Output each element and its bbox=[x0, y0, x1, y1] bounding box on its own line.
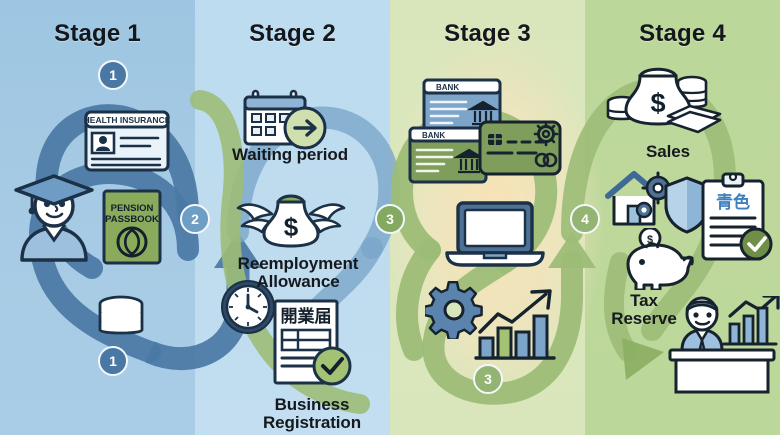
pension-passbook-icon: PENSION PASSBOOK bbox=[101, 188, 163, 266]
passbook-line-2: PASSBOOK bbox=[105, 214, 159, 225]
business-registration-l1: Business bbox=[202, 395, 422, 414]
money-bag-cash-icon: $ bbox=[604, 60, 722, 136]
step-badge-1-bottom: 1 bbox=[98, 346, 128, 376]
tax-reserve-l2: Reserve bbox=[534, 309, 754, 328]
bank-book-green-title: BANK bbox=[422, 131, 445, 140]
business-registration-form-icon: 開業届 bbox=[272, 298, 354, 390]
infographic-canvas: HEALTH INSURANCE PENSION PASSBOOK bbox=[0, 0, 780, 435]
step-badge-3-bottom: 3 bbox=[473, 364, 503, 394]
stage4-money-symbol: $ bbox=[650, 88, 665, 118]
stage-3-title: Stage 3 bbox=[390, 0, 585, 48]
clipboard-title: 青色 bbox=[716, 192, 750, 213]
passbook-line-1: PENSION bbox=[111, 203, 154, 214]
tax-reserve-l1: Tax bbox=[534, 291, 754, 310]
bank-book-green-icon: BANK bbox=[408, 126, 488, 184]
coin-stack-icon bbox=[94, 295, 148, 339]
form-title: 開業届 bbox=[281, 306, 332, 327]
stage-titles: Stage 1 Stage 2 Stage 3 Stage 4 bbox=[0, 0, 780, 48]
step-badge-2: 2 bbox=[180, 204, 210, 234]
stage-4-title: Stage 4 bbox=[585, 0, 780, 48]
stage-1-title: Stage 1 bbox=[0, 0, 195, 48]
step-badge-4: 4 bbox=[570, 204, 600, 234]
bank-book-blue-title: BANK bbox=[436, 83, 459, 92]
waiting-period-label: Waiting period bbox=[180, 145, 400, 164]
sales-label: Sales bbox=[558, 142, 778, 161]
reemployment-allowance-l2: Allowance bbox=[188, 272, 408, 291]
laptop-icon bbox=[444, 200, 546, 270]
health-insurance-card-icon: HEALTH INSURANCE bbox=[84, 110, 170, 172]
arrowhead-stage4-desk bbox=[622, 338, 664, 380]
stage-2-title: Stage 2 bbox=[195, 0, 390, 48]
business-registration-l2: Registration bbox=[202, 413, 422, 432]
winged-money-bag-icon: $ bbox=[236, 186, 346, 248]
step-badge-3-mid: 3 bbox=[375, 204, 405, 234]
insurance-card-title: HEALTH INSURANCE bbox=[84, 115, 170, 125]
graduate-person-icon bbox=[8, 168, 100, 264]
blue-return-clipboard-icon: 青色 bbox=[699, 172, 773, 264]
reemployment-allowance-l1: Reemployment bbox=[188, 254, 408, 273]
piggy-bank-icon: $ bbox=[620, 228, 698, 290]
credit-card-icon bbox=[478, 120, 562, 176]
money-bag-symbol: $ bbox=[284, 212, 299, 242]
step-badge-1-top: 1 bbox=[98, 60, 128, 90]
